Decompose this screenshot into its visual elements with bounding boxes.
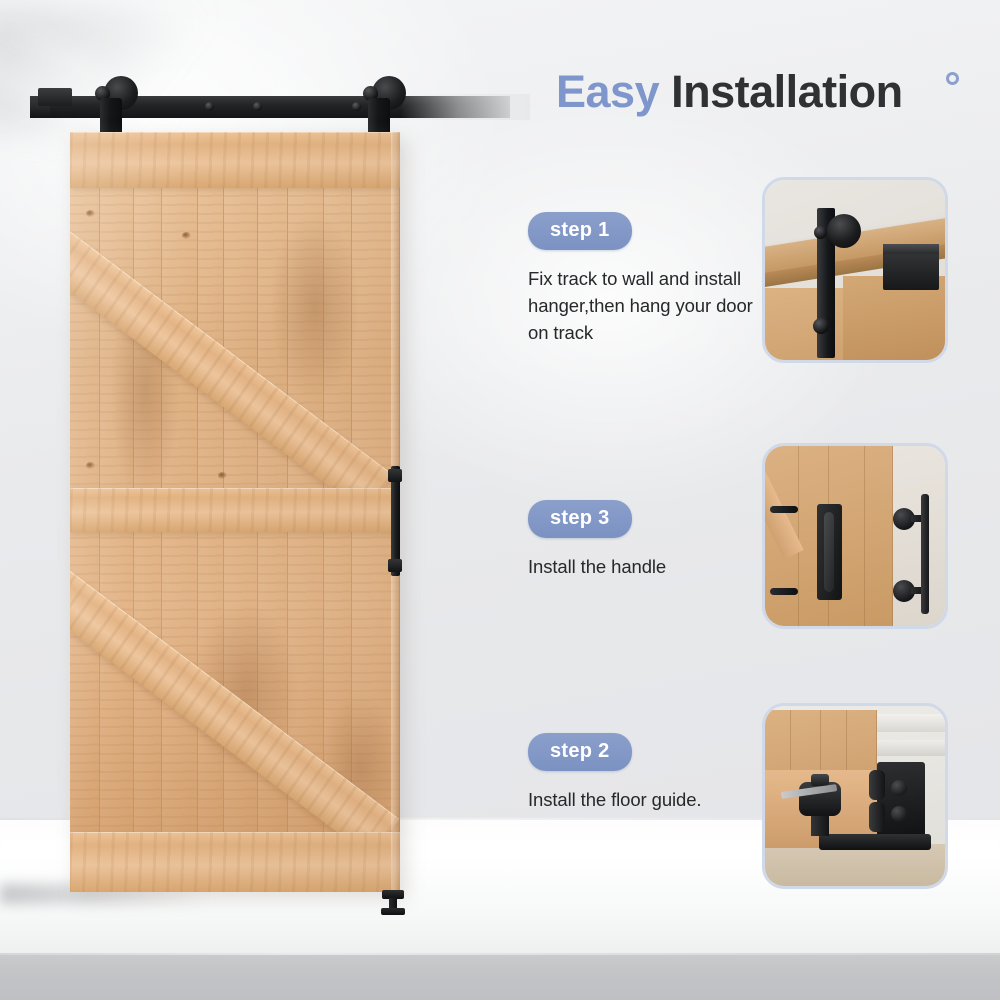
degree-icon [946,72,959,85]
door-shading [70,132,400,892]
thumbnail-image-roller-hanger [765,180,945,360]
handle-standoff [388,559,402,572]
thumbnail-image-handles [765,446,945,626]
track-bolt [352,102,361,111]
step-description: Install the floor guide. [528,787,768,814]
floor-front-edge [0,955,1000,1000]
thumb-wheel-pin [814,226,827,239]
bracket-screw [891,780,907,796]
thumb-wall-trim [871,740,948,756]
flush-pull-recess [824,512,834,592]
step-thumbnail-3 [762,703,948,889]
floor-guide [382,890,404,916]
track-fade [400,94,530,120]
thumb-screw-bolt [770,588,798,595]
title-rest: Installation [671,66,903,117]
thumb-strap-bolt [813,318,829,334]
title-highlight: Easy [556,66,659,117]
roller-wheel-icon [827,214,861,248]
thumb-plank [865,446,893,626]
track-end-stop [38,88,72,106]
handle-standoff [388,469,402,482]
step-badge: step 3 [528,500,632,538]
thumb-wall-trim [871,714,948,732]
thumbnail-image-floor-guide [765,706,945,886]
barn-door [70,132,400,892]
thumb-floor [765,844,948,889]
guide-roller [869,770,885,800]
step-thumbnail-1 [762,177,948,363]
guide-base [381,908,405,915]
page-title: Easy Installation [556,66,976,122]
thumb-track-bracket-top [883,244,939,254]
step-thumbnail-2 [762,443,948,629]
guide-stem [811,814,829,836]
floor-guide-base-plate [819,834,931,850]
guide-knob-top [811,774,829,786]
door-pull-handle [388,466,402,576]
track-bolt [205,102,214,111]
step-block-3: step 2 Install the floor guide. [528,733,768,814]
step-description: Install the handle [528,554,768,581]
step-block-1: step 1 Fix track to wall and install han… [528,212,768,346]
step-description: Fix track to wall and install hanger,the… [528,266,768,346]
guide-roller [869,802,885,832]
track-bolt [253,102,262,111]
bar-pull-handle [921,494,929,614]
thumb-screw-bolt [770,506,798,513]
bracket-screw [891,806,907,822]
step-block-2: step 3 Install the handle [528,500,768,581]
step-badge: step 1 [528,212,632,250]
step-badge: step 2 [528,733,632,771]
